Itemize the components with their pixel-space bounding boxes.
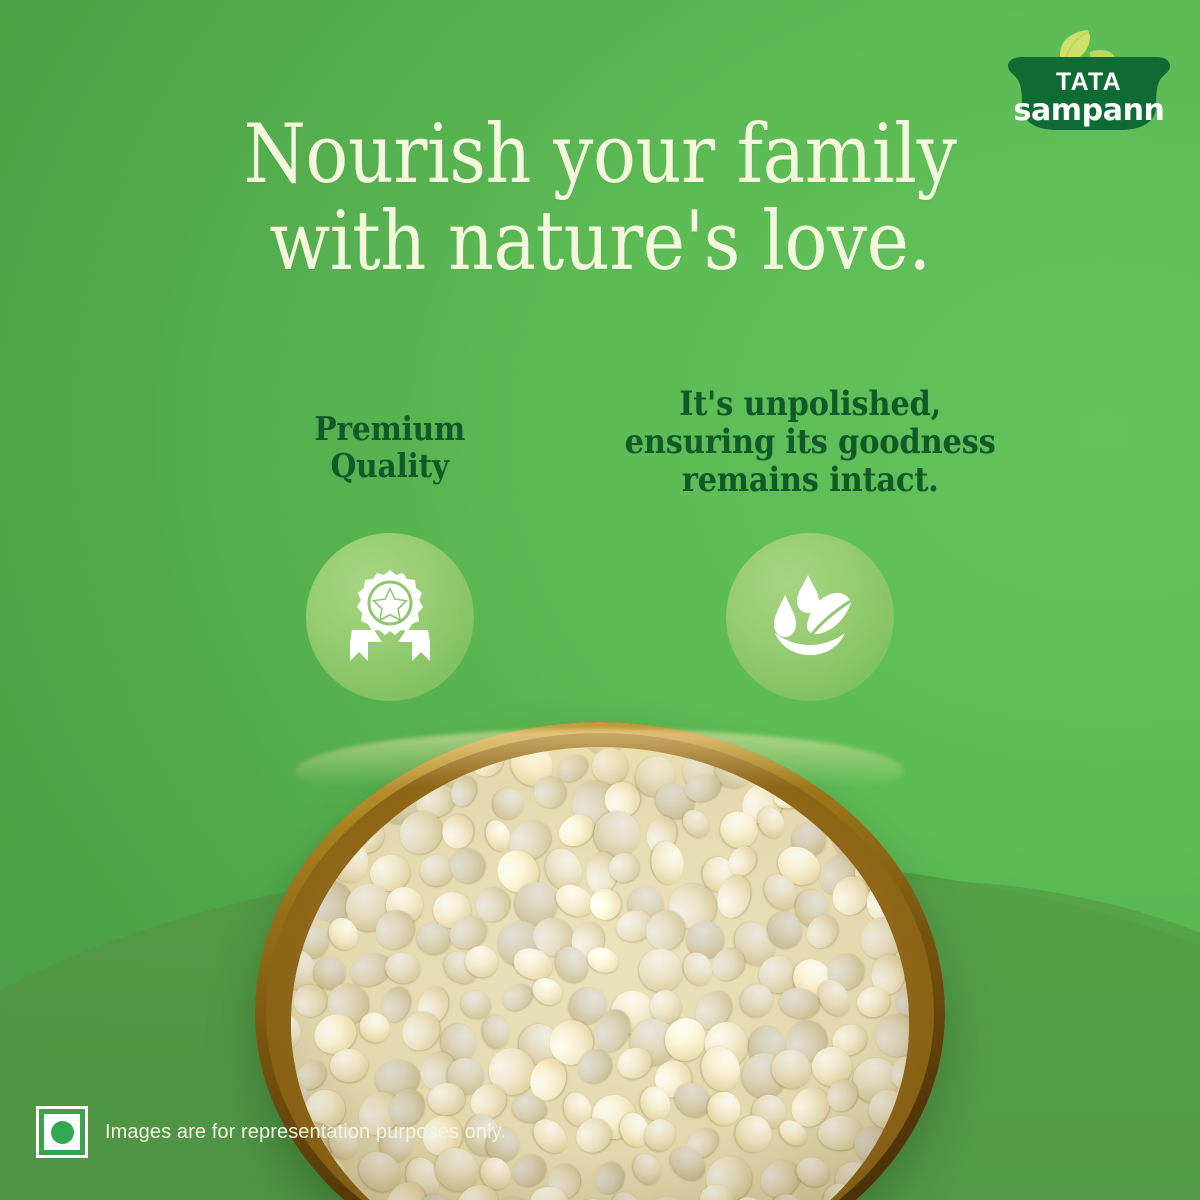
dal-bean: [793, 747, 830, 772]
vegetarian-mark-inner: [41, 1111, 83, 1153]
dal-bean: [479, 1013, 511, 1052]
ad-creative-canvas: TATA sampann Nourish your family with na…: [0, 0, 1200, 1200]
vegetarian-mark-dot: [51, 1121, 74, 1144]
dal-bean: [393, 747, 437, 785]
feature-text-line-1: Premium: [315, 409, 466, 448]
dal-bean: [313, 747, 361, 780]
dal-bean: [330, 1049, 368, 1083]
feature-text-line-3: remains intact.: [682, 460, 939, 500]
dal-bean: [757, 747, 791, 780]
dal-bean: [382, 949, 423, 987]
feature-text-line-2: Quality: [331, 446, 449, 485]
dal-bean: [498, 979, 537, 1016]
feature-premium-quality-text: Premium Quality: [315, 411, 466, 485]
dal-bean: [440, 813, 475, 850]
page-title: Nourish your family with nature's love.: [72, 112, 1128, 287]
feature-unpolished: It's unpolished, ensuring its goodness r…: [600, 385, 1020, 701]
dal-bean: [419, 853, 454, 887]
feature-list: Premium Quality: [0, 385, 1200, 701]
feature-premium-quality: Premium Quality: [180, 385, 600, 701]
dal-bean: [803, 782, 843, 822]
feature-icon-circle-unpolished: [726, 533, 894, 701]
feature-text-line-2: ensuring its goodness: [625, 422, 996, 462]
dal-bean: [443, 841, 492, 890]
dal-bean: [645, 1193, 696, 1200]
feature-icon-circle-premium: [306, 533, 474, 701]
feature-text-line-1: It's unpolished,: [679, 384, 941, 424]
vegetarian-mark-icon: [36, 1106, 88, 1158]
leaf-water-drop-icon: [761, 571, 859, 663]
dal-bean: [829, 747, 861, 782]
feature-unpolished-text: It's unpolished, ensuring its goodness r…: [625, 385, 996, 499]
disclaimer-text: Images are for representation purposes o…: [105, 1121, 506, 1144]
dal-bean: [487, 783, 529, 825]
footer-disclaimer-row: Images are for representation purposes o…: [36, 1106, 506, 1158]
headline-line-1: Nourish your family: [243, 108, 956, 202]
dal-bean: [627, 1148, 666, 1189]
headline-line-2: with nature's love.: [72, 199, 1128, 286]
logo-tata-text: TATA: [1056, 68, 1122, 96]
dal-bean: [896, 1121, 909, 1164]
award-ribbon-star-icon: [344, 568, 436, 666]
